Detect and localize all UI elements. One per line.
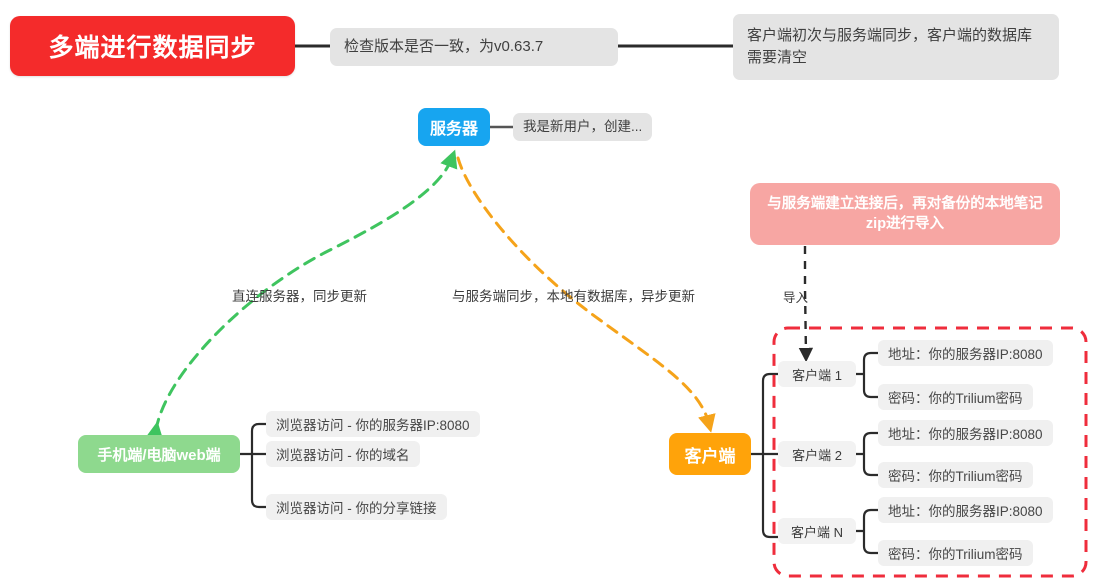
edge-label-green: 直连服务器，同步更新 [232, 285, 367, 305]
web-node[interactable]: 手机端/电脑web端 [78, 435, 240, 473]
client-n-address[interactable]: 地址：你的服务器IP:8080 [878, 497, 1053, 523]
note-first-sync: 客户端初次与服务端同步，客户端的数据库需要清空 [733, 14, 1059, 80]
web-leaf-domain[interactable]: 浏览器访问 - 你的域名 [266, 441, 420, 467]
note-version: 检查版本是否一致，为v0.63.7 [330, 28, 618, 66]
server-node[interactable]: 服务器 [418, 108, 490, 146]
client-n-node[interactable]: 客户端 N [778, 518, 856, 544]
wire-clientN-bracket [855, 510, 878, 553]
client-2-password[interactable]: 密码：你的Trilium密码 [878, 462, 1033, 488]
server-note: 我是新用户，创建... [513, 113, 652, 141]
client-1-password[interactable]: 密码：你的Trilium密码 [878, 384, 1033, 410]
web-leaf-ip[interactable]: 浏览器访问 - 你的服务器IP:8080 [266, 411, 480, 437]
edge-label-orange: 与服务端同步，本地有数据库，异步更新 [452, 285, 695, 305]
client-node[interactable]: 客户端 [669, 433, 751, 475]
client-n-password[interactable]: 密码：你的Trilium密码 [878, 540, 1033, 566]
pink-import-note: 与服务端建立连接后，再对备份的本地笔记zip进行导入 [750, 183, 1060, 245]
wire-client1-bracket [855, 353, 878, 397]
diagram-canvas: 多端进行数据同步 检查版本是否一致，为v0.63.7 客户端初次与服务端同步，客… [0, 0, 1103, 588]
root-node[interactable]: 多端进行数据同步 [10, 16, 295, 76]
import-arrow-label: 导入 [783, 287, 808, 306]
web-leaf-share[interactable]: 浏览器访问 - 你的分享链接 [266, 494, 447, 520]
client-2-address[interactable]: 地址：你的服务器IP:8080 [878, 420, 1053, 446]
client-2-node[interactable]: 客户端 2 [778, 441, 856, 467]
client-1-node[interactable]: 客户端 1 [778, 361, 856, 387]
wire-web-bracket [240, 424, 266, 507]
client-1-address[interactable]: 地址：你的服务器IP:8080 [878, 340, 1053, 366]
wire-client2-bracket [855, 433, 878, 475]
